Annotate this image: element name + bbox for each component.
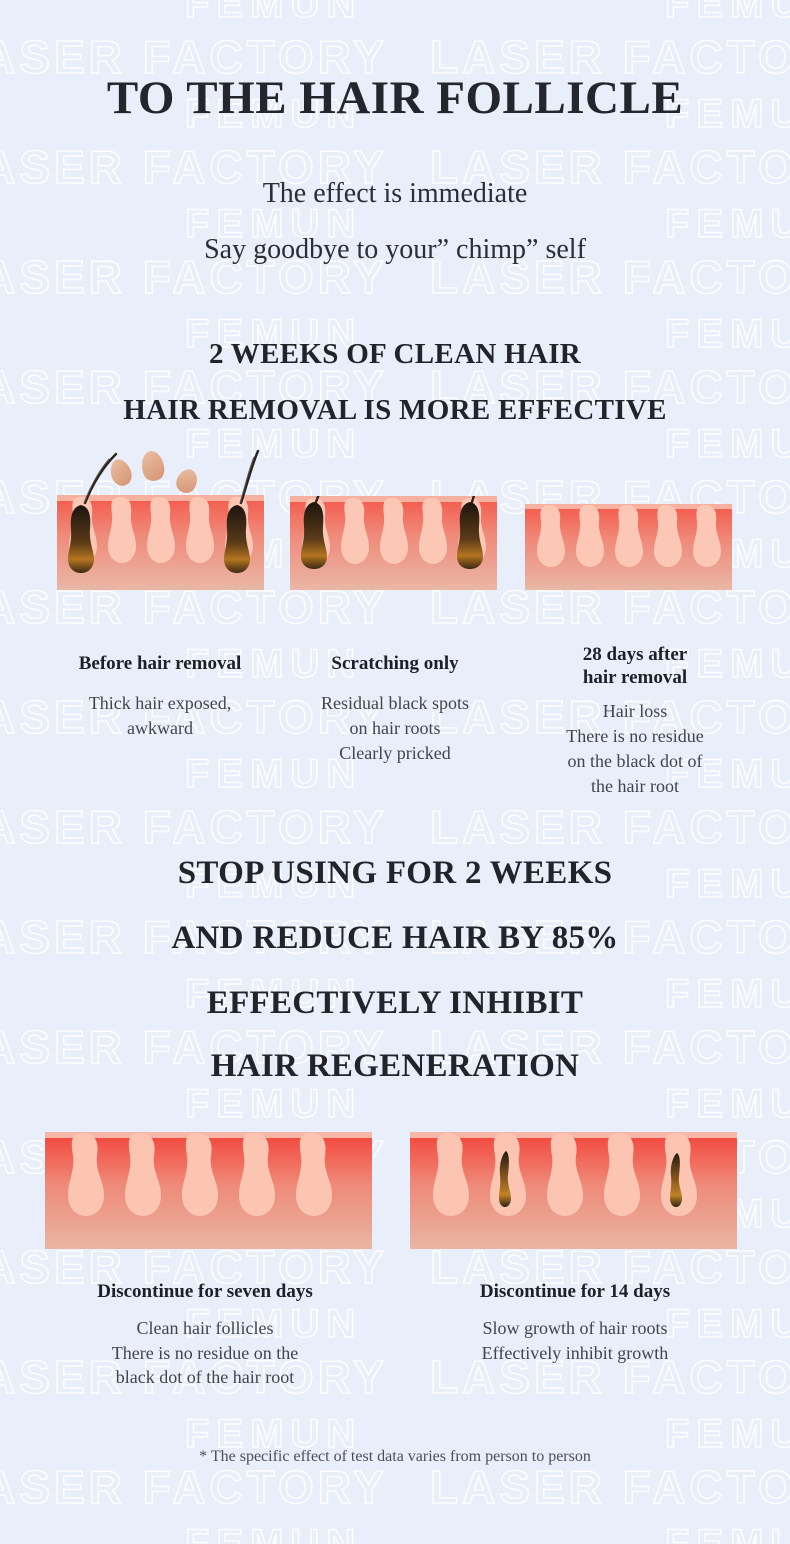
caption-before-hair-removal: Before hair removal Thick hair exposed, …: [35, 652, 285, 741]
skin-illustration-28-days-after: [525, 504, 732, 590]
caption-body: Slow growth of hair roots Effectively in…: [400, 1316, 750, 1366]
caption-scratching-only: Scratching only Residual black spots on …: [270, 652, 520, 766]
skin-illustration-before-hair-removal: [57, 447, 264, 590]
section2-heading-line-3: EFFECTIVELY INHIBIT: [0, 985, 790, 1022]
footnote: * The specific effect of test data varie…: [0, 1448, 790, 1466]
skin-illustration-scratching-only: [290, 496, 497, 590]
subtitle-line-1: The effect is immediate: [0, 180, 790, 208]
section1-heading-line-2: HAIR REMOVAL IS MORE EFFECTIVE: [0, 394, 790, 427]
section2-heading-line-2: AND REDUCE HAIR BY 85%: [0, 920, 790, 957]
caption-body: Hair loss There is no residue on the bla…: [510, 699, 760, 798]
section2-heading-line-1: STOP USING FOR 2 WEEKS: [0, 855, 790, 892]
skin-illustration-discontinue-seven-days: [45, 1132, 372, 1249]
caption-body: Thick hair exposed, awkward: [35, 691, 285, 741]
caption-title: 28 days after hair removal: [510, 643, 760, 689]
caption-body: Clean hair follicles There is no residue…: [30, 1316, 380, 1390]
caption-discontinue-14-days: Discontinue for 14 days Slow growth of h…: [400, 1280, 750, 1365]
subtitle-line-2: Say goodbye to your” chimp” self: [0, 236, 790, 264]
caption-28-days-after: 28 days after hair removal Hair loss The…: [510, 643, 760, 799]
caption-body: Residual black spots on hair roots Clear…: [270, 691, 520, 765]
skin-illustration-discontinue-14-days: [410, 1132, 737, 1249]
caption-title: Before hair removal: [35, 652, 285, 675]
caption-title: Discontinue for seven days: [30, 1280, 380, 1304]
caption-discontinue-seven-days: Discontinue for seven days Clean hair fo…: [30, 1280, 380, 1390]
caption-title: Discontinue for 14 days: [400, 1280, 750, 1304]
page-title: TO THE HAIR FOLLICLE: [0, 74, 790, 123]
section2-heading-line-4: HAIR REGENERATION: [0, 1048, 790, 1085]
detached-follicle-bulbs: [107, 449, 201, 496]
section1-heading-line-1: 2 WEEKS OF CLEAN HAIR: [0, 338, 790, 371]
caption-title: Scratching only: [270, 652, 520, 675]
